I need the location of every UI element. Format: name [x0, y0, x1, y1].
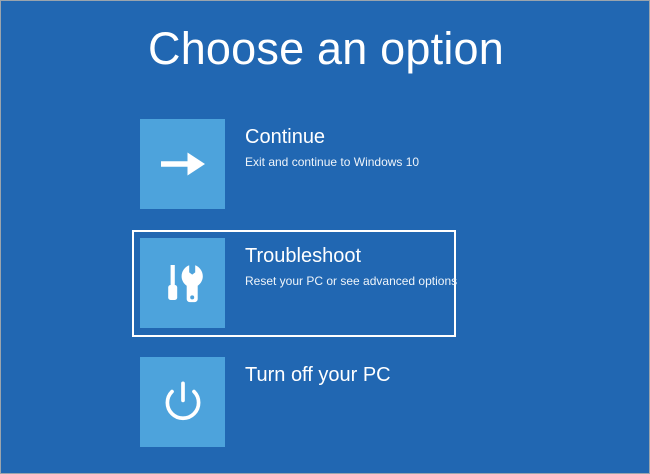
option-turn-off-your-pc[interactable]: Turn off your PC — [132, 349, 462, 456]
windows-recovery-screen: Choose an option Continue Exit and conti… — [0, 0, 650, 474]
option-text-block: Continue Exit and continue to Windows 10 — [225, 119, 419, 171]
option-icon-tile — [140, 119, 225, 209]
power-icon — [160, 379, 206, 425]
option-troubleshoot[interactable]: Troubleshoot Reset your PC or see advanc… — [132, 230, 456, 337]
option-subtitle: Reset your PC or see advanced options — [245, 273, 448, 290]
option-icon-tile — [140, 357, 225, 447]
page-title: Choose an option — [1, 23, 650, 75]
option-continue[interactable]: Continue Exit and continue to Windows 10 — [132, 111, 462, 218]
option-text-block: Turn off your PC — [225, 357, 391, 388]
option-subtitle: Exit and continue to Windows 10 — [245, 154, 419, 171]
option-icon-tile — [140, 238, 225, 328]
option-text-block: Troubleshoot Reset your PC or see advanc… — [225, 238, 448, 290]
option-heading: Turn off your PC — [245, 363, 391, 388]
options-list: Continue Exit and continue to Windows 10 — [132, 111, 462, 468]
screwdriver-wrench-icon — [160, 260, 206, 306]
option-heading: Continue — [245, 125, 419, 150]
option-heading: Troubleshoot — [245, 244, 448, 269]
arrow-right-icon — [159, 144, 207, 184]
